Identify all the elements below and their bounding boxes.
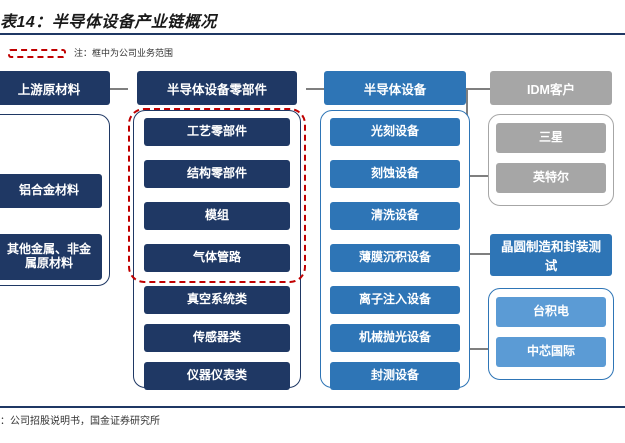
node-customer-samsung[interactable]: 三星	[496, 123, 606, 153]
connector-equipment-to-customers	[466, 88, 490, 90]
node-parts-1[interactable]: 结构零部件	[144, 160, 290, 188]
title-bar: 表14：半导体设备产业链概况	[0, 6, 625, 32]
footer-divider	[0, 406, 625, 408]
node-parts-0[interactable]: 工艺零部件	[144, 118, 290, 146]
node-parts-2[interactable]: 模组	[144, 202, 290, 230]
page-title: 表14：半导体设备产业链概况	[0, 8, 217, 32]
dashed-swatch-icon	[8, 49, 66, 58]
node-equipment-5[interactable]: 机械抛光设备	[330, 324, 460, 352]
node-equipment-2[interactable]: 清洗设备	[330, 202, 460, 230]
node-parts-4[interactable]: 真空系统类	[144, 286, 290, 314]
node-equipment-1[interactable]: 刻蚀设备	[330, 160, 460, 188]
note-text: 注：框中为公司业务范围	[74, 46, 173, 59]
node-parts-6[interactable]: 仪器仪表类	[144, 362, 290, 390]
node-customer-tsmc[interactable]: 台积电	[496, 297, 606, 327]
node-equipment-6[interactable]: 封测设备	[330, 362, 460, 390]
column-header-upstream: 上游原材料	[0, 71, 110, 105]
node-equipment-0[interactable]: 光刻设备	[330, 118, 460, 146]
node-customer-smic[interactable]: 中芯国际	[496, 337, 606, 367]
title-divider	[0, 33, 625, 35]
column-header-parts: 半导体设备零部件	[137, 71, 297, 105]
node-parts-5[interactable]: 传感器类	[144, 324, 290, 352]
node-equipment-3[interactable]: 薄膜沉积设备	[330, 244, 460, 272]
connector-parts-to-equipment	[306, 88, 324, 90]
column-header-equipment: 半导体设备	[324, 71, 466, 105]
source-text: ：公司招股说明书，国金证券研究所	[0, 412, 160, 427]
node-parts-3[interactable]: 气体管路	[144, 244, 290, 272]
column-header-foundry: 晶圆制造和封装测试	[490, 234, 612, 276]
connector-upstream-to-parts	[110, 88, 128, 90]
node-upstream-1[interactable]: 其他金属、非金属原材料	[0, 234, 102, 280]
column-header-customers: IDM客户	[490, 71, 612, 105]
node-customer-intel[interactable]: 英特尔	[496, 163, 606, 193]
node-upstream-0[interactable]: 铝合金材料	[0, 174, 102, 208]
node-equipment-4[interactable]: 离子注入设备	[330, 286, 460, 314]
legend-note: 注：框中为公司业务范围	[8, 46, 408, 62]
